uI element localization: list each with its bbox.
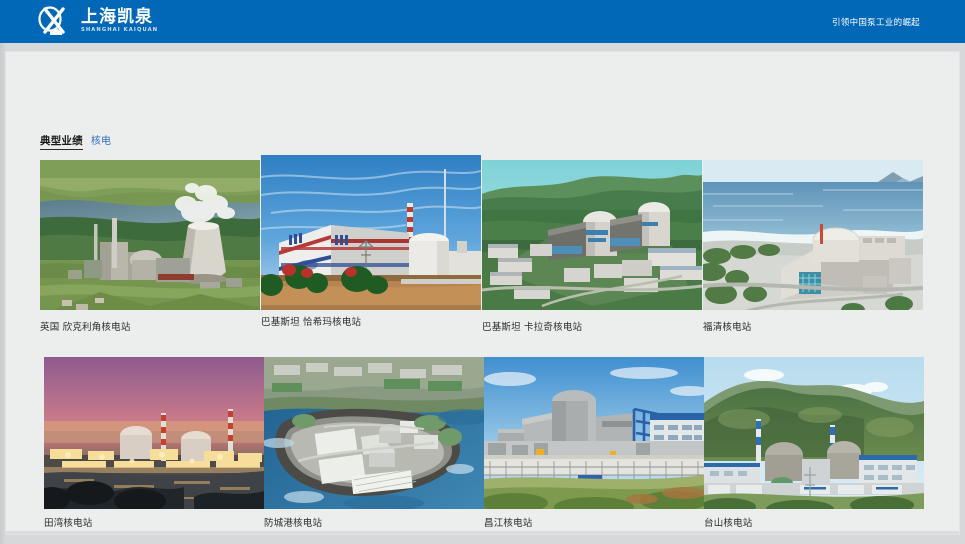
- gallery-item-caption: 英国 欣克利角核电站: [40, 321, 260, 335]
- gallery-item-caption: 巴基斯坦 恰希玛核电站: [261, 316, 481, 330]
- gallery-item[interactable]: 昌江核电站: [484, 357, 704, 531]
- content-sheet: 典型业绩 核电: [6, 52, 959, 534]
- hinkley-point-aerial-photo[interactable]: [40, 160, 260, 310]
- page-stage: 典型业绩 核电: [0, 43, 965, 544]
- project-gallery: 英国 欣克利角核电站: [40, 155, 926, 534]
- gallery-item[interactable]: 福清核电站: [703, 155, 923, 335]
- fuqing-plant-rendering[interactable]: [703, 160, 923, 310]
- changjiang-plant-photo[interactable]: [484, 357, 704, 509]
- gallery-item-caption: 昌江核电站: [484, 517, 704, 531]
- header-slogan: 引领中国泵工业的崛起: [832, 0, 920, 43]
- gallery-item[interactable]: 巴基斯坦 卡拉奇核电站: [482, 155, 702, 335]
- gallery-item-caption: 巴基斯坦 卡拉奇核电站: [482, 321, 702, 335]
- gallery-item-caption: 台山核电站: [704, 517, 924, 531]
- gallery-item[interactable]: 英国 欣克利角核电站: [40, 155, 260, 335]
- gallery-item[interactable]: 台山核电站: [704, 357, 924, 531]
- karachi-plant-rendering[interactable]: [482, 160, 702, 310]
- page-title: 典型业绩: [40, 133, 83, 150]
- logo-brand-cn: 上海凯泉: [81, 9, 158, 26]
- tianwan-plant-night-photo[interactable]: [44, 357, 264, 509]
- section-category-link[interactable]: 核电: [91, 132, 111, 147]
- gallery-item-caption: 防城港核电站: [264, 517, 484, 531]
- gallery-row: 田湾核电站: [40, 357, 926, 531]
- kaiquan-monogram-icon: [36, 6, 76, 38]
- logo-brand-en: SHANGHAI KAIQUAN: [81, 28, 158, 33]
- fangchenggang-plant-aerial-photo[interactable]: [264, 357, 484, 509]
- chashma-plant-photo[interactable]: [261, 155, 481, 310]
- site-logo[interactable]: 上海凯泉 SHANGHAI KAIQUAN: [36, 5, 158, 38]
- gallery-item-caption: 福清核电站: [703, 321, 923, 335]
- gallery-item[interactable]: 防城港核电站: [264, 357, 484, 531]
- taishan-plant-photo[interactable]: [704, 357, 924, 509]
- gallery-row: 英国 欣克利角核电站: [40, 155, 926, 335]
- gallery-item-caption: 田湾核电站: [44, 517, 264, 531]
- gallery-item[interactable]: 巴基斯坦 恰希玛核电站: [261, 155, 481, 335]
- section-header: 典型业绩 核电: [40, 132, 111, 150]
- gallery-item[interactable]: 田湾核电站: [44, 357, 264, 531]
- site-header: 上海凯泉 SHANGHAI KAIQUAN 引领中国泵工业的崛起: [0, 0, 965, 43]
